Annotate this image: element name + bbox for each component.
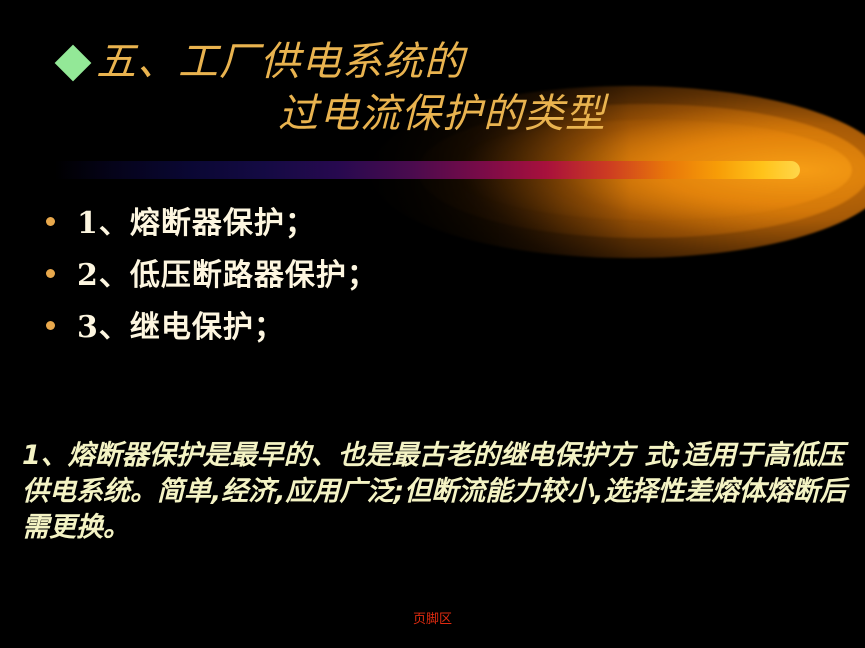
slide-canvas: 五、工厂供电系统的 过电流保护的类型 1、熔断器保护； 2、低压断路器保护； 3… xyxy=(0,0,865,648)
bullet-list: 1、熔断器保护； 2、低压断路器保护； 3、继电保护； xyxy=(46,204,806,360)
title-line-2: 过电流保护的类型 xyxy=(278,88,800,140)
gradient-divider-bar xyxy=(55,161,800,179)
body-paragraph: 1、熔断器保护是最早的、也是最古老的继电保护方 式;适用于高低压供电系统。简单,… xyxy=(22,438,852,546)
list-item-label: 3、继电保护； xyxy=(77,308,285,348)
bullet-dot-icon xyxy=(46,217,55,226)
footer-placeholder: 页脚区 xyxy=(0,608,865,627)
title-line-1: 五、工厂供电系统的 xyxy=(96,36,465,88)
list-item: 1、熔断器保护； xyxy=(46,204,806,244)
list-item: 3、继电保护； xyxy=(46,308,806,348)
list-item-label: 1、熔断器保护； xyxy=(77,204,316,244)
title-line-1-row: 五、工厂供电系统的 xyxy=(60,36,800,88)
slide-title: 五、工厂供电系统的 过电流保护的类型 xyxy=(60,36,800,140)
bullet-dot-icon xyxy=(46,321,55,330)
green-diamond-icon xyxy=(55,45,92,82)
list-item: 2、低压断路器保护； xyxy=(46,256,806,296)
bullet-dot-icon xyxy=(46,269,55,278)
list-item-label: 2、低压断路器保护； xyxy=(77,256,378,296)
